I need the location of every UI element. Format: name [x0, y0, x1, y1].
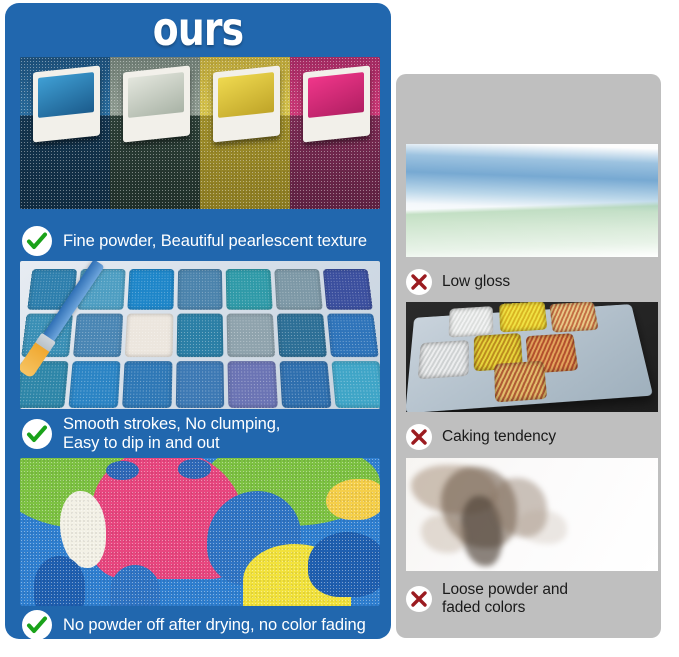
- others-drawback-row-1: Low gloss: [406, 268, 656, 296]
- pearlescent-pans-photo: [20, 57, 380, 209]
- caked-metallic-pans-photo: [406, 302, 658, 412]
- others-drawback-label-2: Caking tendency: [442, 428, 556, 446]
- x-circle-icon: [406, 269, 432, 295]
- low-gloss-wash-photo: [406, 144, 658, 257]
- others-panel: Others Low gloss: [396, 74, 661, 638]
- blue-palette-brush-photo: [20, 261, 380, 409]
- faded-sepia-wash-photo: [406, 458, 658, 571]
- ours-feature-label-2: Smooth strokes, No clumping, Easy to dip…: [63, 415, 280, 453]
- ours-feature-label-1: Fine powder, Beautiful pearlescent textu…: [63, 232, 367, 251]
- check-circle-icon: [22, 226, 52, 256]
- others-drawback-label-3: Loose powder and faded colors: [442, 581, 568, 617]
- ours-panel: ours Fine powder, Beautiful pearlescent …: [5, 3, 391, 639]
- check-circle-icon: [22, 419, 52, 449]
- others-drawback-row-2: Caking tendency: [406, 423, 656, 451]
- ours-feature-row-1: Fine powder, Beautiful pearlescent textu…: [22, 225, 382, 257]
- ours-feature-label-3: No powder off after drying, no color fad…: [63, 616, 366, 635]
- comparison-infographic: ours Fine powder, Beautiful pearlescent …: [0, 0, 679, 657]
- others-drawback-label-1: Low gloss: [442, 273, 510, 291]
- ours-feature-row-2: Smooth strokes, No clumping, Easy to dip…: [22, 412, 382, 456]
- x-circle-icon: [406, 586, 432, 612]
- x-circle-icon: [406, 424, 432, 450]
- ours-title: ours: [40, 5, 357, 53]
- ours-feature-row-3: No powder off after drying, no color fad…: [22, 609, 382, 639]
- check-circle-icon: [22, 610, 52, 639]
- cat-artwork-photo: [20, 458, 380, 606]
- others-drawback-row-3: Loose powder and faded colors: [406, 578, 656, 620]
